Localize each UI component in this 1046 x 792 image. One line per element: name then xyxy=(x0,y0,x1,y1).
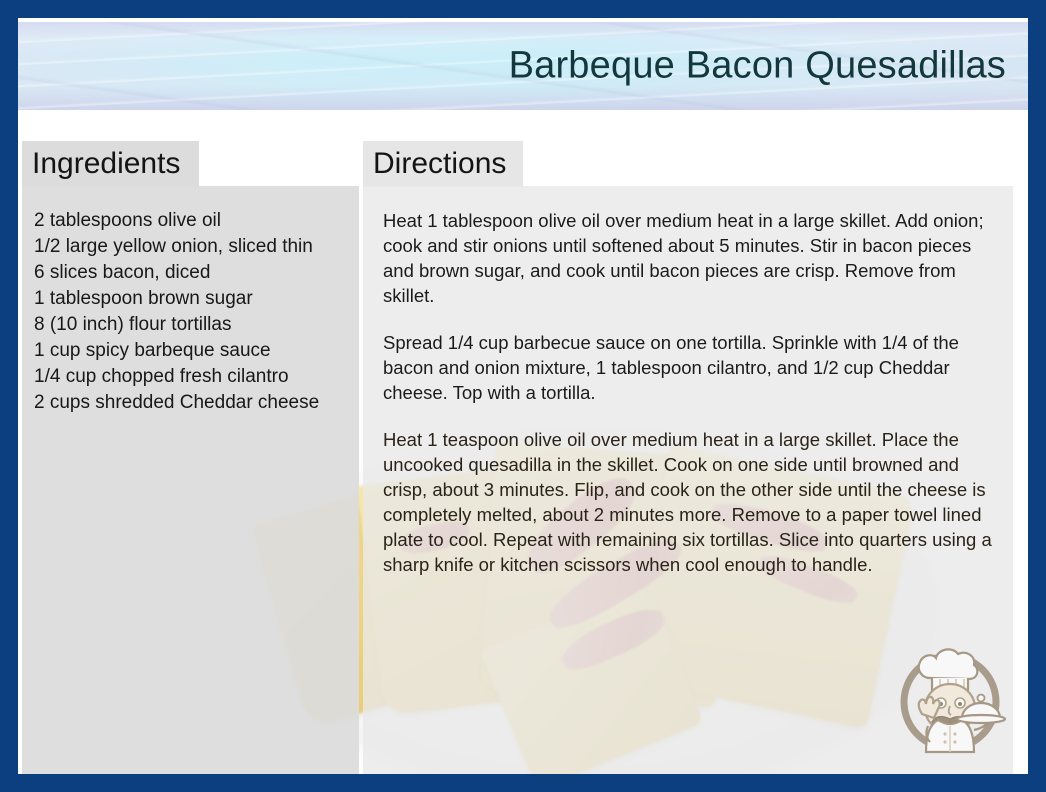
list-item: 2 tablespoons olive oil xyxy=(34,208,347,234)
ingredients-heading: Ingredients xyxy=(22,147,180,181)
list-item: 1/4 cup chopped fresh cilantro xyxy=(34,364,347,390)
list-item: 2 cups shredded Cheddar cheese xyxy=(34,390,347,416)
title-banner: Barbeque Bacon Quesadillas xyxy=(18,22,1028,110)
page-title: Barbeque Bacon Quesadillas xyxy=(509,45,1006,88)
list-item: 1/2 large yellow onion, sliced thin xyxy=(34,234,347,260)
list-item: 6 slices bacon, diced xyxy=(34,260,347,286)
ingredients-panel: 2 tablespoons olive oil 1/2 large yellow… xyxy=(22,186,359,776)
directions-header-tab: Directions xyxy=(363,141,523,187)
list-item: 1 cup spicy barbeque sauce xyxy=(34,338,347,364)
recipe-card: Barbeque Bacon Quesadillas Ingredients 2… xyxy=(0,0,1046,792)
direction-step: Heat 1 teaspoon olive oil over medium he… xyxy=(383,427,995,577)
ingredients-list: 2 tablespoons olive oil 1/2 large yellow… xyxy=(34,208,347,416)
list-item: 8 (10 inch) flour tortillas xyxy=(34,312,347,338)
chef-logo xyxy=(886,634,1014,758)
ingredients-header-tab: Ingredients xyxy=(22,141,199,187)
direction-step: Spread 1/4 cup barbecue sauce on one tor… xyxy=(383,330,995,405)
direction-step: Heat 1 tablespoon olive oil over medium … xyxy=(383,208,995,308)
directions-heading: Directions xyxy=(363,147,506,181)
list-item: 1 tablespoon brown sugar xyxy=(34,286,347,312)
